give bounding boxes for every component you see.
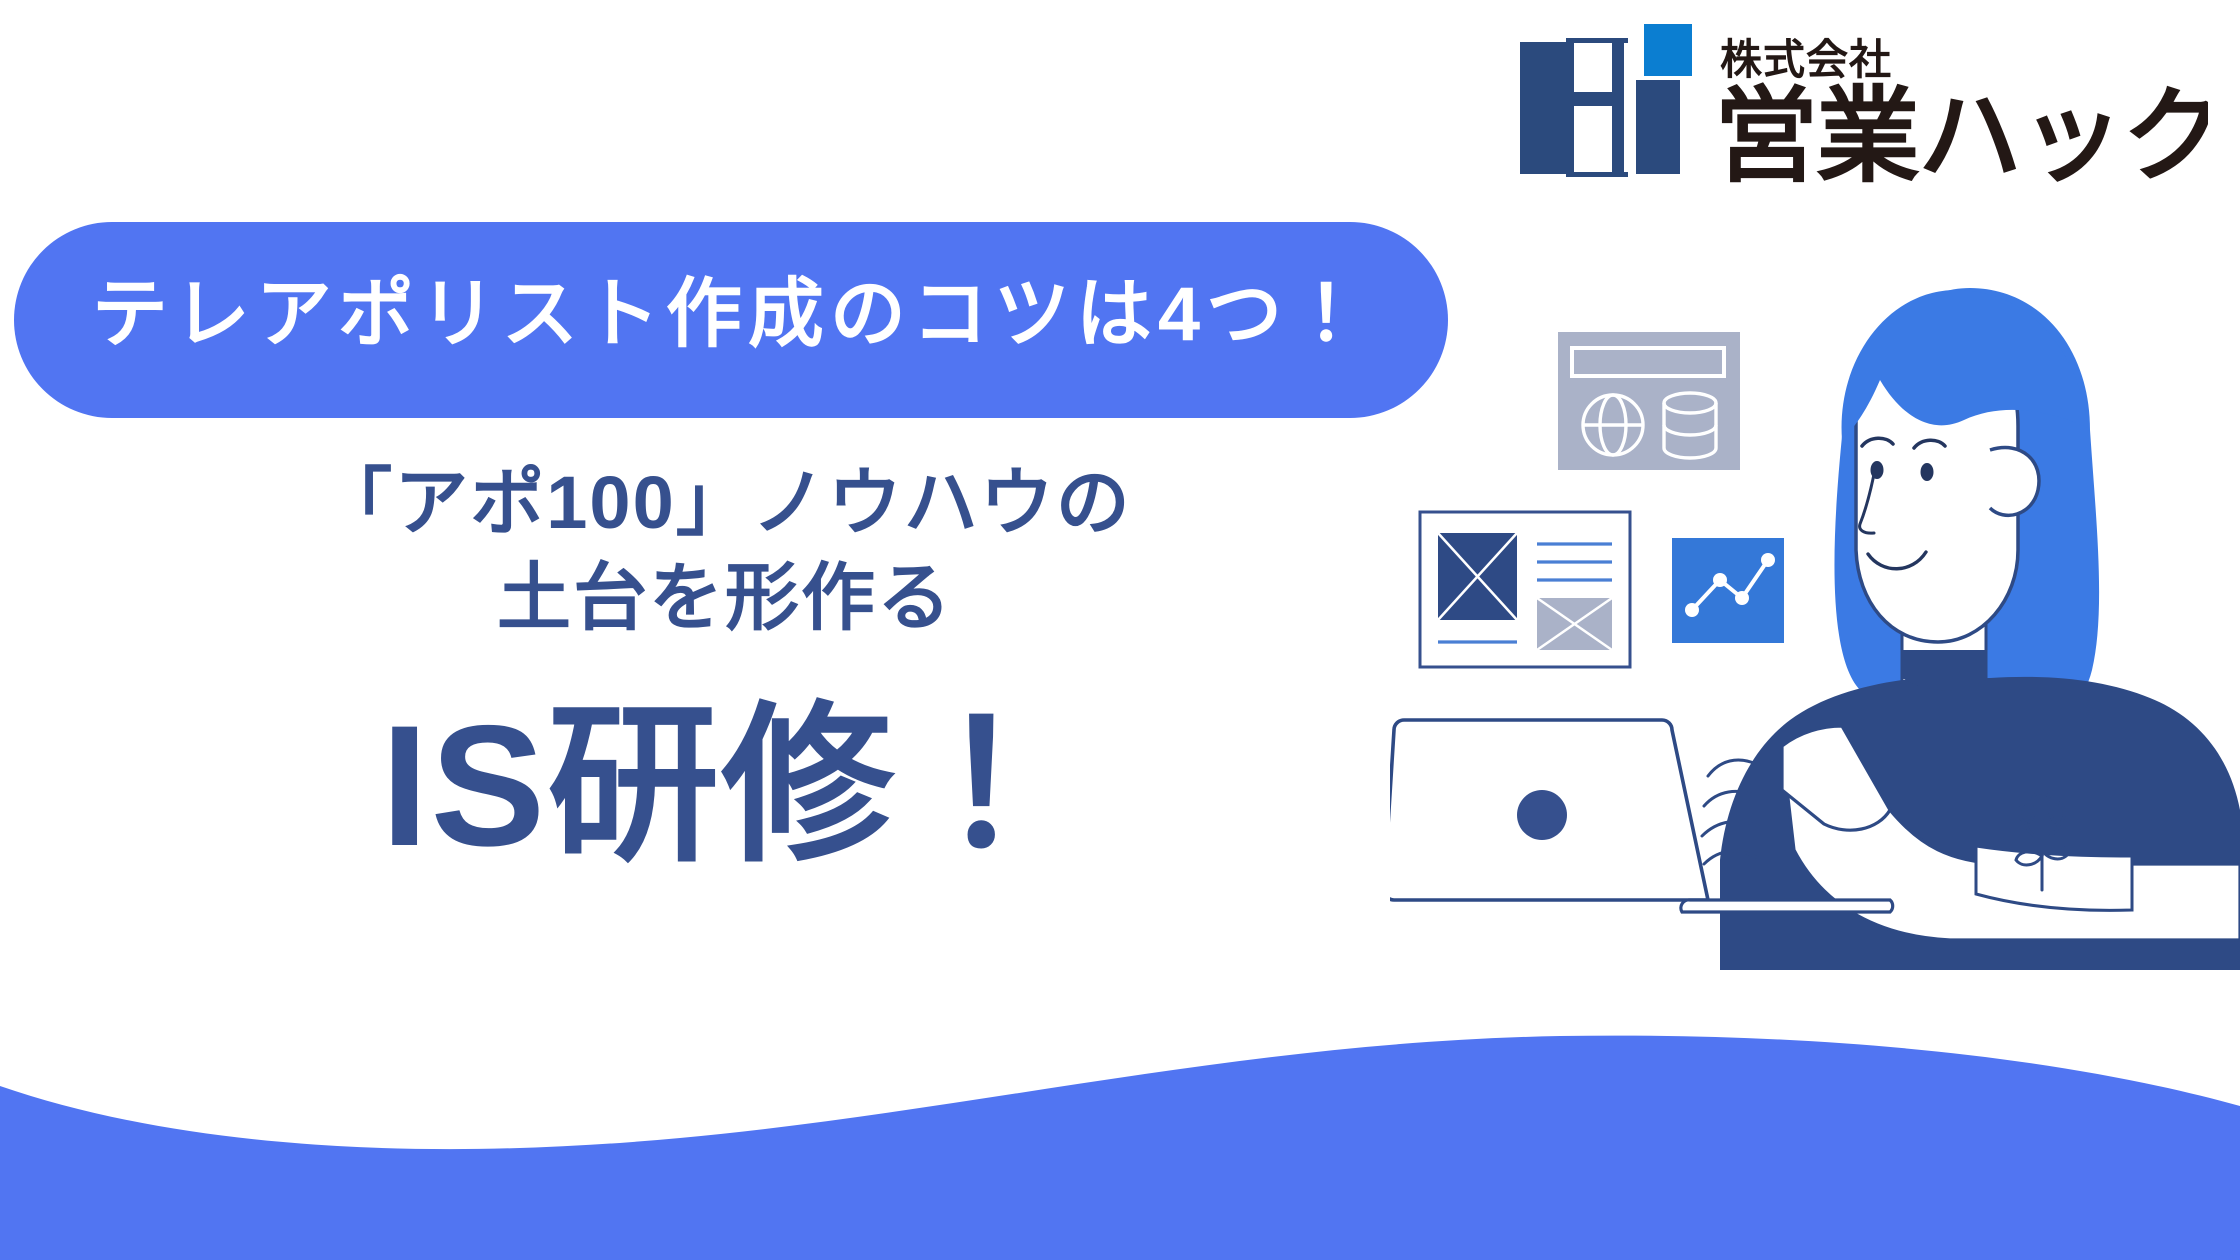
- hero-illustration: [1390, 250, 2240, 970]
- illustration-svg: [1390, 250, 2240, 970]
- placeholder-image-dark-icon: [1438, 533, 1517, 620]
- laptop-logo-dot: [1517, 790, 1567, 840]
- logo-svg: 株式会社 営業ハック: [1508, 14, 2208, 204]
- page-title: IS研修！: [0, 700, 1450, 872]
- pill-label: テレアポリスト作成のコツは4つ！: [92, 277, 1370, 353]
- sleeve-cuff: [1976, 846, 2132, 910]
- headline-pill-badge: テレアポリスト作成のコツは4つ！: [14, 222, 1448, 418]
- placeholder-image-light-icon: [1537, 598, 1612, 650]
- sweater-collar: [1902, 650, 1986, 690]
- subtitle-line-1: 「アポ100」ノウハウの: [0, 456, 1450, 551]
- laptop-base: [1681, 900, 1893, 912]
- wireframe-card: [1420, 512, 1630, 667]
- logo-h-mark: [1520, 24, 1692, 177]
- browser-card: [1558, 332, 1740, 470]
- eye-right: [1921, 463, 1934, 481]
- company-logo: 株式会社 営業ハック: [1508, 14, 2208, 204]
- subtitle-block: 「アポ100」ノウハウの 土台を形作る: [0, 456, 1450, 645]
- chart-card: [1672, 538, 1784, 643]
- banner-canvas: 株式会社 営業ハック テレアポリスト作成のコツは4つ！ 「アポ100」ノウハウの…: [0, 0, 2240, 1260]
- bottom-wave-decoration: [0, 1020, 2240, 1260]
- subtitle-line-2: 土台を形作る: [0, 551, 1450, 646]
- wave-shape: [0, 1036, 2240, 1260]
- logo-company-name: 営業ハック: [1714, 75, 2208, 197]
- ear: [1990, 448, 2039, 516]
- wave-svg: [0, 1020, 2240, 1260]
